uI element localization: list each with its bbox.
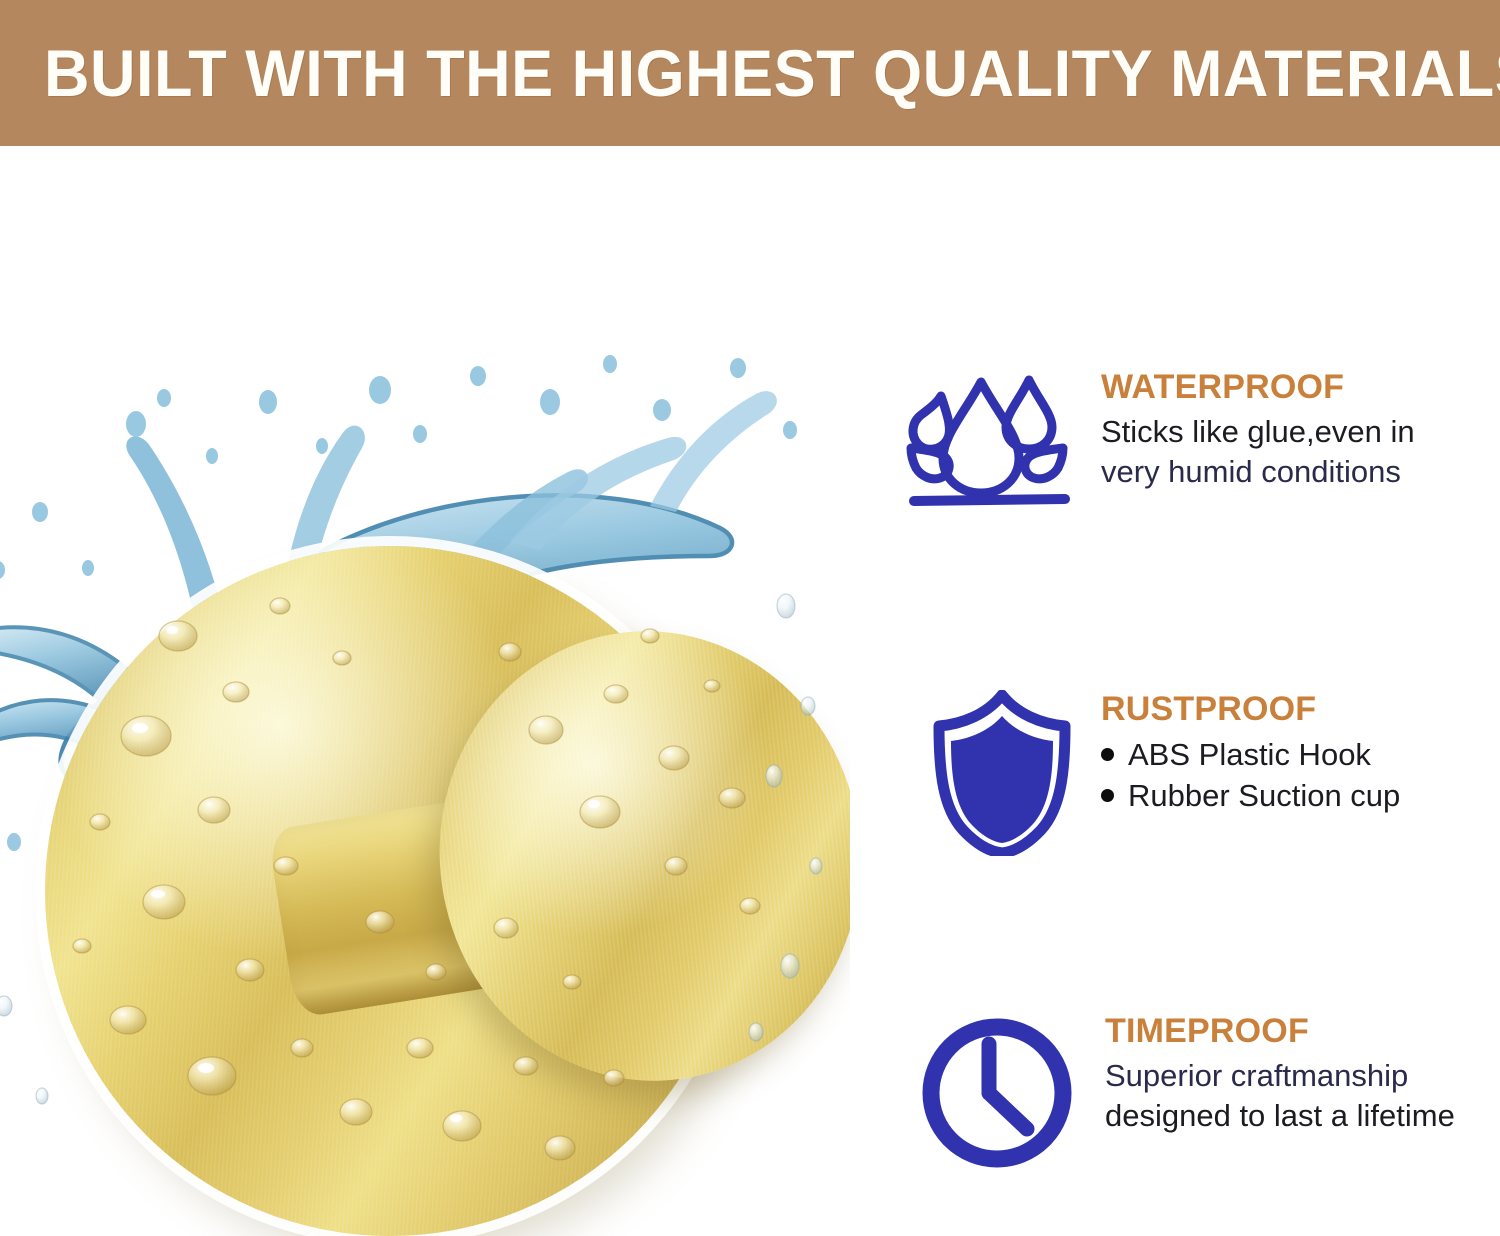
feature-waterproof-heading: WATERPROOF	[1101, 370, 1415, 406]
bullet-label: Rubber Suction cup	[1128, 775, 1400, 816]
feature-timeproof-line-1: Superior craftmanship	[1105, 1056, 1455, 1096]
feature-timeproof-line-2: designed to last a lifetime	[1105, 1096, 1455, 1136]
content-stage: WATERPROOF Sticks like glue,even in very…	[0, 146, 1500, 1233]
feature-timeproof: TIMEPROOF Superior craftmanship designed…	[919, 1012, 1455, 1179]
feature-waterproof-line-1: Sticks like glue,even in	[1101, 412, 1415, 452]
feature-list: WATERPROOF Sticks like glue,even in very…	[905, 146, 1465, 1233]
header-banner: BUILT WITH THE HIGHEST QUALITY MATERIALS	[0, 0, 1500, 146]
feature-rustproof-bullets: ABS Plastic Hook Rubber Suction cup	[1101, 734, 1400, 816]
shield-icon	[929, 690, 1075, 861]
bullet-dot-icon	[1101, 748, 1114, 761]
product-image	[0, 306, 850, 1236]
feature-waterproof-text: WATERPROOF Sticks like glue,even in very…	[1101, 368, 1415, 492]
feature-waterproof-line-2: very humid conditions	[1101, 452, 1415, 492]
list-item: Rubber Suction cup	[1101, 775, 1400, 816]
feature-rustproof-heading: RUSTPROOF	[1101, 692, 1400, 728]
feature-rustproof-text: RUSTPROOF ABS Plastic Hook Rubber Suctio…	[1101, 690, 1400, 816]
feature-timeproof-heading: TIMEPROOF	[1105, 1014, 1455, 1050]
list-item: ABS Plastic Hook	[1101, 734, 1400, 775]
bullet-dot-icon	[1101, 789, 1114, 802]
feature-waterproof: WATERPROOF Sticks like glue,even in very…	[905, 368, 1415, 513]
page-title: BUILT WITH THE HIGHEST QUALITY MATERIALS	[44, 40, 1500, 106]
clock-icon	[919, 1012, 1079, 1179]
bullet-label: ABS Plastic Hook	[1128, 734, 1371, 775]
feature-timeproof-text: TIMEPROOF Superior craftmanship designed…	[1105, 1012, 1455, 1136]
feature-rustproof: RUSTPROOF ABS Plastic Hook Rubber Suctio…	[929, 690, 1400, 861]
water-droplets-icon	[905, 368, 1075, 513]
